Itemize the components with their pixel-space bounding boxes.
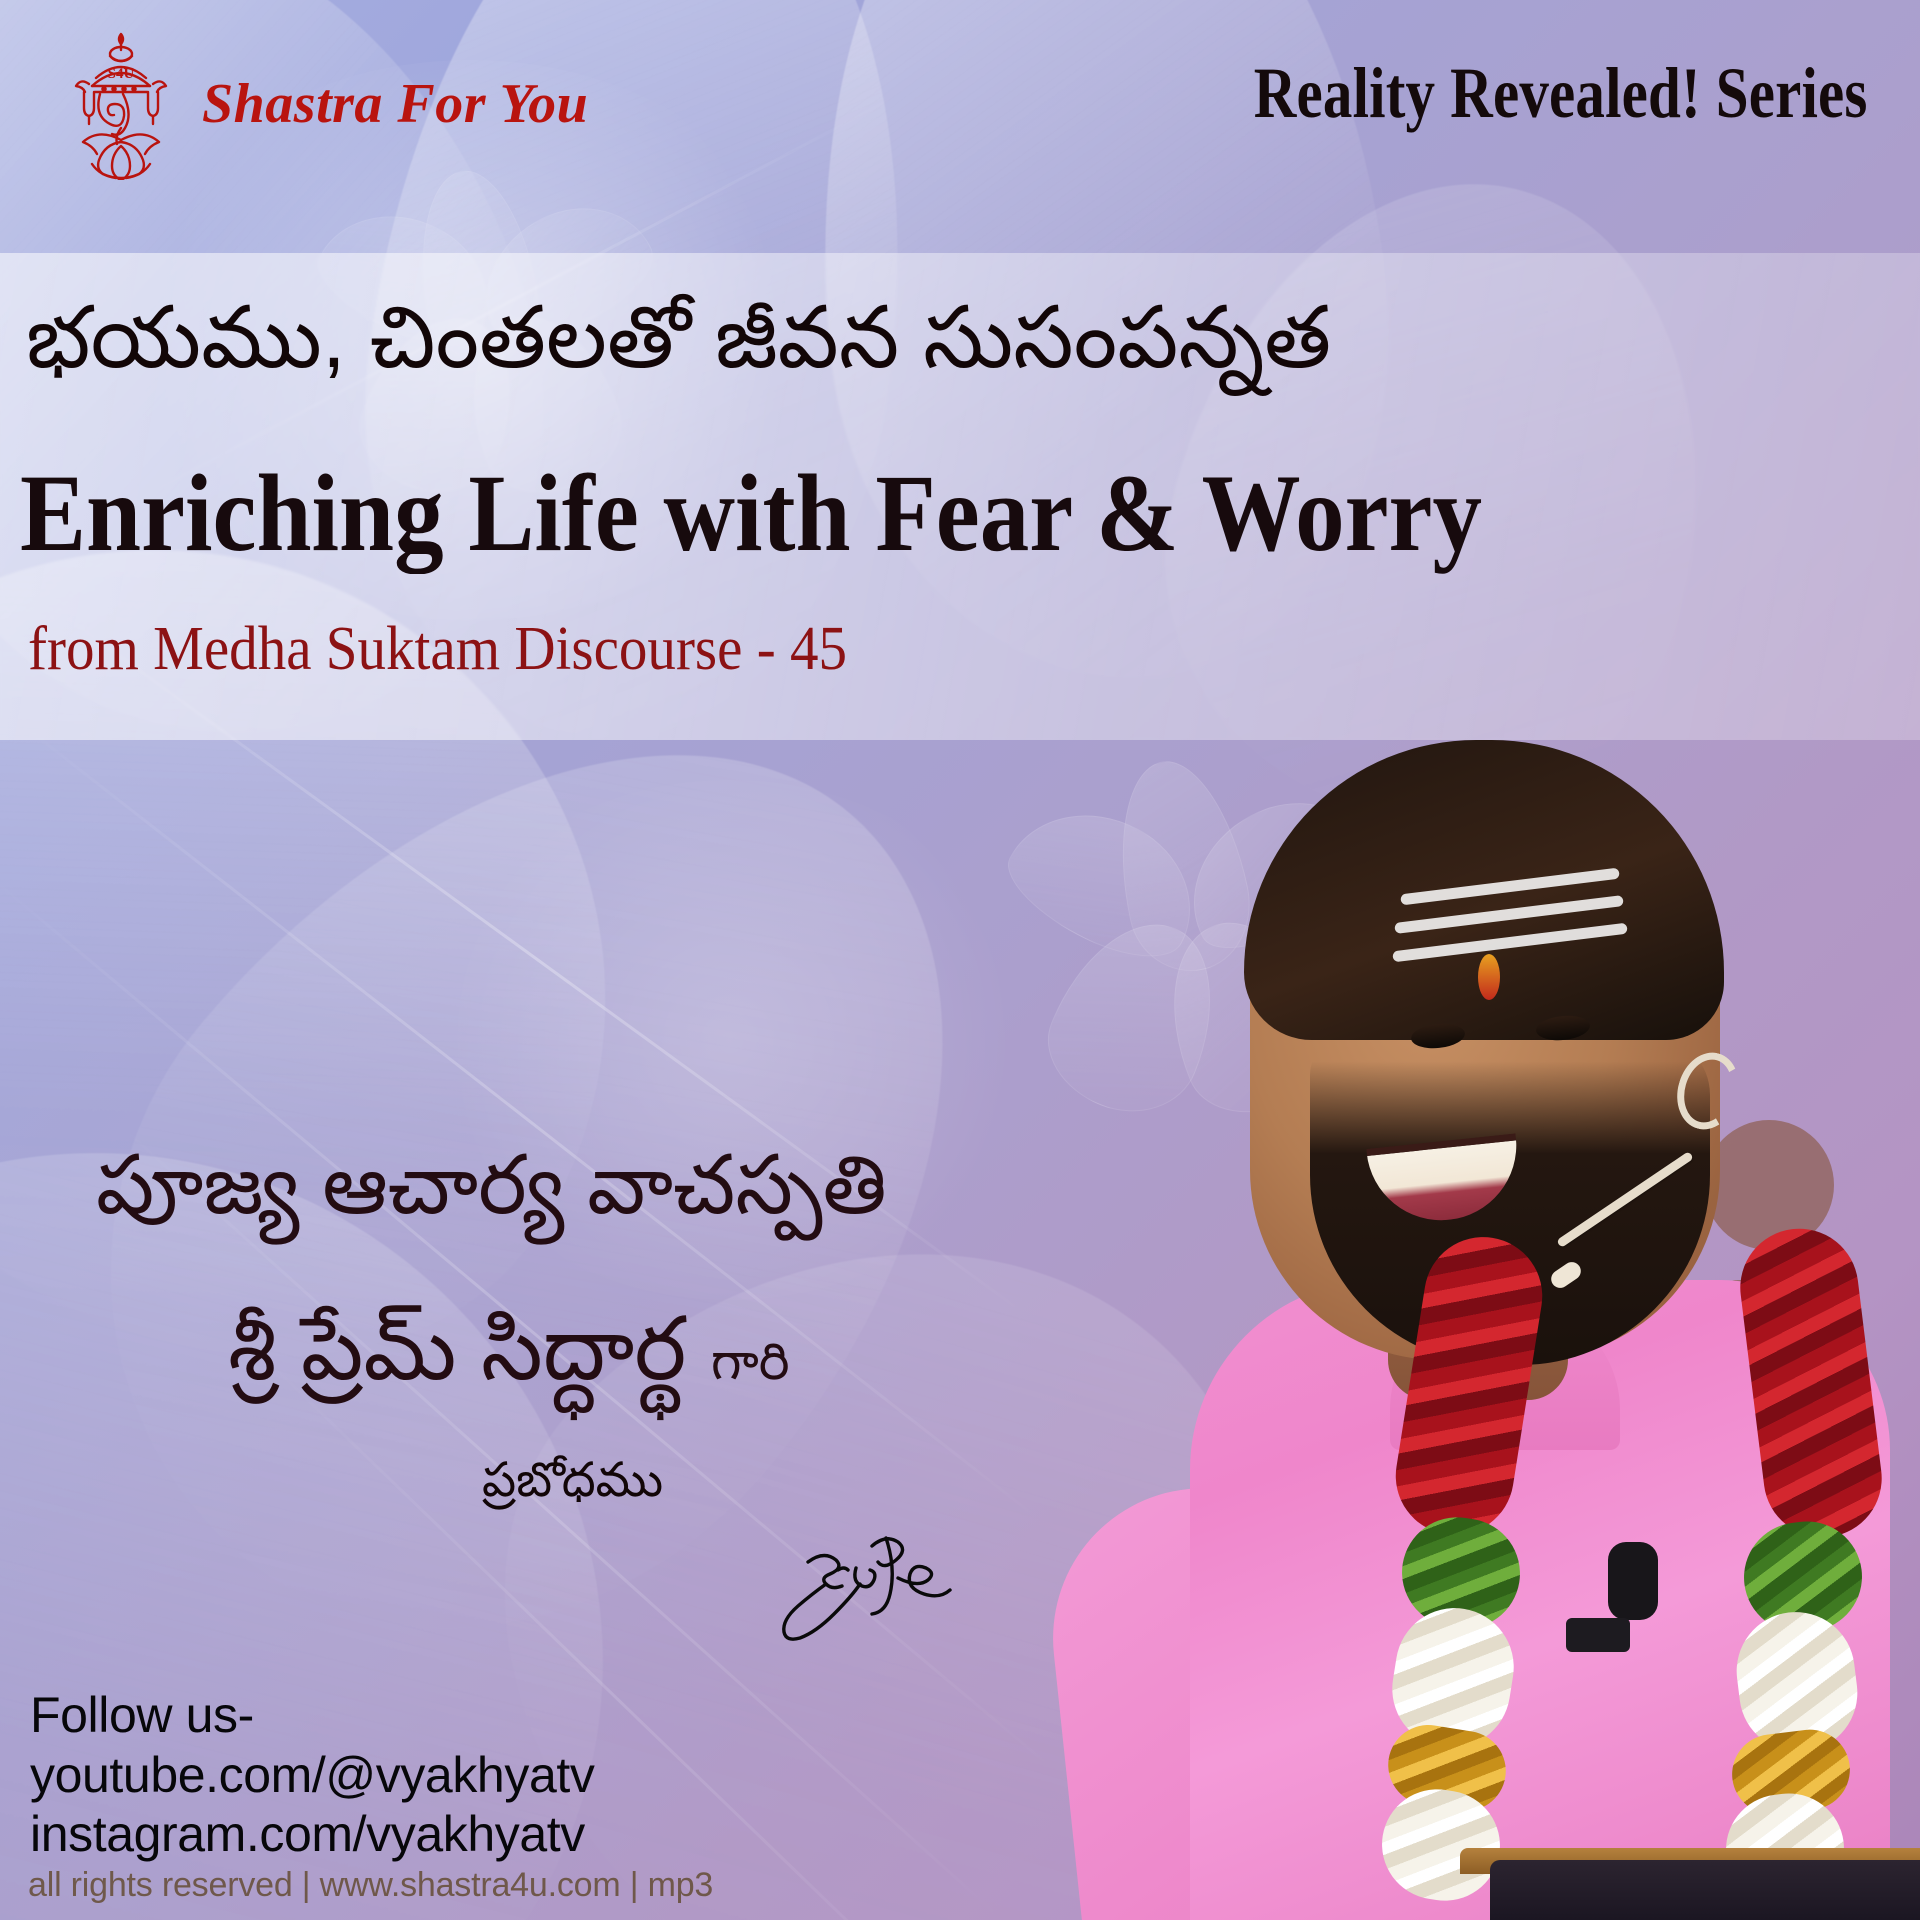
brand-name: Shastra For You [202,72,588,136]
speaker-line-3: ప్రబోధము [482,1457,663,1505]
youtube-link[interactable]: youtube.com/@vyakhyatv [30,1746,594,1806]
header: S4U [0,0,1920,253]
table-front [1490,1860,1920,1920]
title-telugu: భయము, చింతలతో జీవన సుసంపన్నత [26,295,1331,381]
title-english: Enriching Life with Fear & Worry [20,458,1482,568]
follow-label: Follow us- [30,1686,594,1746]
poster-canvas: S4U [0,0,1920,1920]
speaker-portrait-image [1040,670,1920,1920]
speaker-honorific: గారి [711,1333,790,1391]
bindi-mark [1478,954,1500,1000]
lotus-crown-emblem-icon: S4U [62,28,180,180]
lapel-mic-clip [1566,1618,1630,1652]
source-line: from Medha Suktam Discourse - 45 [28,618,847,680]
series-label: Reality Revealed! Series [1254,52,1868,135]
handwritten-signature-icon [760,1528,1010,1658]
speaker-name: శ్రీ ప్రేమ్ సిద్ధార్థ [228,1299,686,1398]
speaker-line-2: శ్రీ ప్రేమ్ సిద్ధార్థ గారి [228,1305,790,1393]
speaker-line-1: పూజ్య ఆచార్య వాచస్పతి [96,1145,887,1227]
follow-block: Follow us- youtube.com/@vyakhyatv instag… [30,1686,594,1865]
svg-text:S4U: S4U [108,66,135,82]
instagram-link[interactable]: instagram.com/vyakhyatv [30,1805,594,1865]
brand-logo[interactable]: S4U [62,28,588,180]
lapel-mic-icon [1608,1542,1658,1620]
rights-line: all rights reserved | www.shastra4u.com … [28,1866,713,1905]
